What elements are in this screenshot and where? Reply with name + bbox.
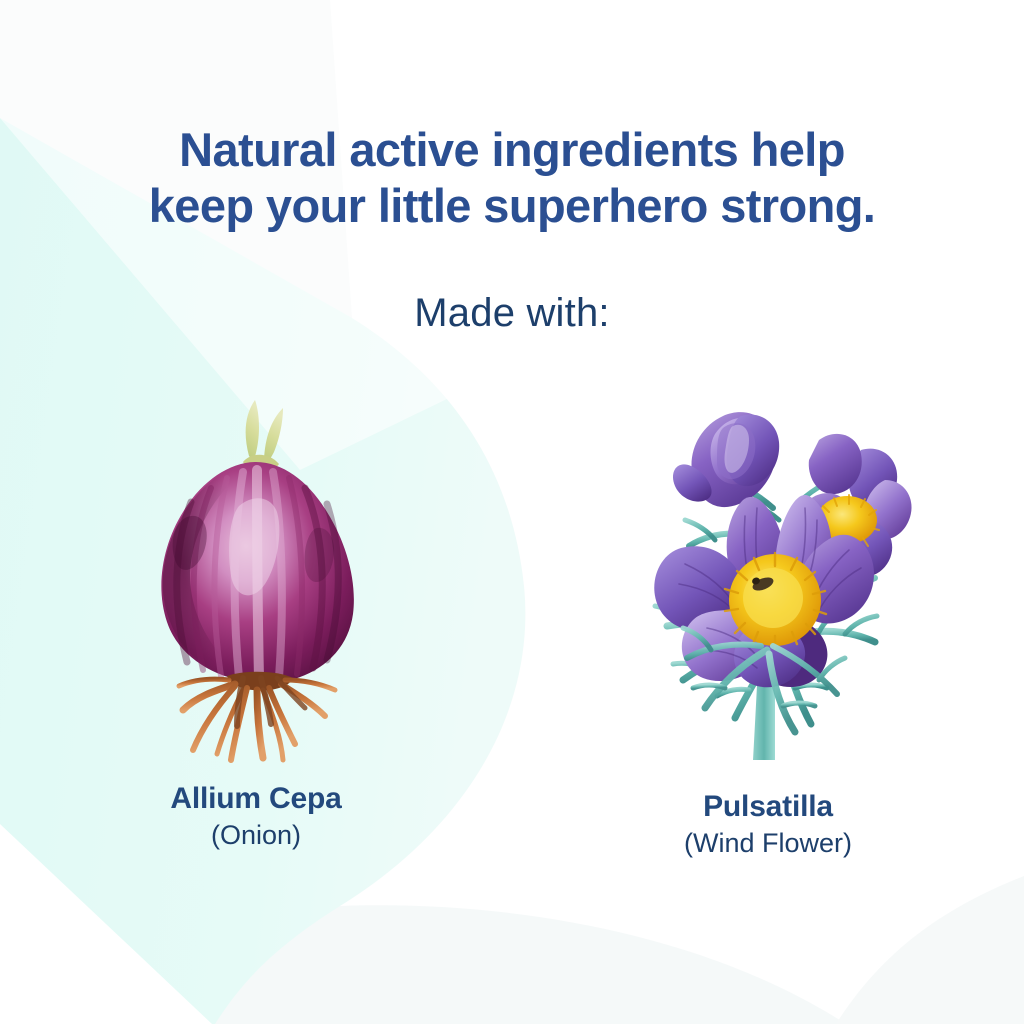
ingredient-common-name: (Wind Flower) — [684, 827, 852, 859]
ingredient-list: Allium Cepa (Onion) — [0, 378, 1024, 878]
ingredient-item-allium-cepa: Allium Cepa (Onion) — [0, 378, 512, 878]
pulsatilla-watercolor-icon — [623, 388, 913, 768]
page-title: Natural active ingredients help keep you… — [0, 122, 1024, 234]
onion-sprout-left — [246, 400, 259, 462]
onion-watercolor-icon — [131, 378, 381, 768]
ingredient-name: Pulsatilla — [703, 790, 833, 824]
ingredient-name: Allium Cepa — [170, 782, 341, 816]
pulsatilla-art-frame — [623, 378, 913, 776]
onion-art-frame — [131, 378, 381, 768]
pulsatilla-bud-left — [673, 412, 779, 507]
ingredient-item-pulsatilla: Pulsatilla (Wind Flower) — [512, 378, 1024, 878]
made-with-label: Made with: — [0, 289, 1024, 337]
promo-graphic: Natural active ingredients help keep you… — [0, 0, 1024, 1024]
ingredient-common-name: (Onion) — [211, 819, 301, 851]
onion-roots — [179, 679, 335, 760]
